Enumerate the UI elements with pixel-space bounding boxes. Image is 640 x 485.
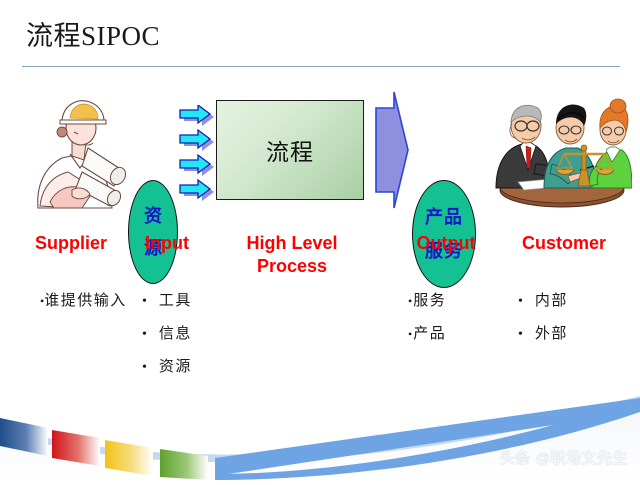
list-item: • 服务: [408, 294, 446, 309]
header-customer: Customer: [502, 232, 626, 255]
slide-canvas: 流程SIPOC: [0, 0, 640, 480]
column-supplier: • 谁提供输入: [40, 294, 127, 327]
bullet-dot: •: [408, 295, 412, 307]
list-item: • 谁提供输入: [40, 294, 127, 309]
bullet-dot: •: [408, 328, 412, 340]
list-item-label: 谁提供输入: [44, 294, 127, 309]
header-input: Input: [128, 232, 206, 255]
high-level-process-box: 流程: [216, 100, 364, 200]
header-high-level-process: High Level Process: [220, 232, 364, 277]
three-people-meeting-with-scales-icon: [492, 90, 632, 210]
header-output: Output: [396, 232, 496, 255]
list-item: • 信息: [142, 327, 192, 342]
output-ellipse-line-1: 产品: [425, 208, 463, 226]
bullet-dot: •: [518, 328, 523, 342]
list-item: • 外部: [518, 327, 568, 342]
column-customer: • 内部 • 外部: [518, 294, 568, 360]
list-item-label: 服务: [413, 294, 446, 309]
list-item-label: 外部: [535, 327, 568, 342]
column-input: • 工具 • 信息 • 资源: [142, 294, 192, 393]
input-arrows-group: [179, 105, 219, 199]
bullet-dot: •: [142, 361, 147, 375]
list-item-label: 信息: [159, 327, 192, 342]
list-item: • 内部: [518, 294, 568, 309]
list-item: • 工具: [142, 294, 192, 309]
title-divider: [22, 66, 620, 67]
input-ellipse-line-1: 资: [144, 207, 162, 225]
sipoc-header-row: Supplier Input High Level Process Output…: [0, 232, 640, 284]
list-item-label: 产品: [413, 327, 446, 342]
bullet-dot: •: [142, 295, 147, 309]
chevron-right-arrow-icon: [374, 90, 410, 210]
list-item-label: 资源: [159, 360, 192, 375]
column-output: • 服务 • 产品: [408, 294, 446, 360]
bullet-dot: •: [142, 328, 147, 342]
watermark-text: 头条 @职场文先生: [500, 447, 628, 468]
process-box-label: 流程: [266, 133, 314, 167]
engineer-with-blueprints-icon: [26, 88, 130, 212]
list-item: • 产品: [408, 327, 446, 342]
sipoc-content-columns: • 谁提供输入 • 工具 • 信息 • 资源 • 服务: [0, 294, 640, 404]
list-item-label: 工具: [159, 294, 192, 309]
header-supplier: Supplier: [18, 232, 124, 255]
bullet-dot: •: [518, 295, 523, 309]
list-item: • 资源: [142, 360, 192, 375]
sipoc-diagram: 资 源: [0, 84, 640, 216]
footer-decoration: 头条 @职场文先生: [0, 396, 640, 480]
list-item-label: 内部: [535, 294, 568, 309]
page-title: 流程SIPOC: [26, 14, 160, 53]
